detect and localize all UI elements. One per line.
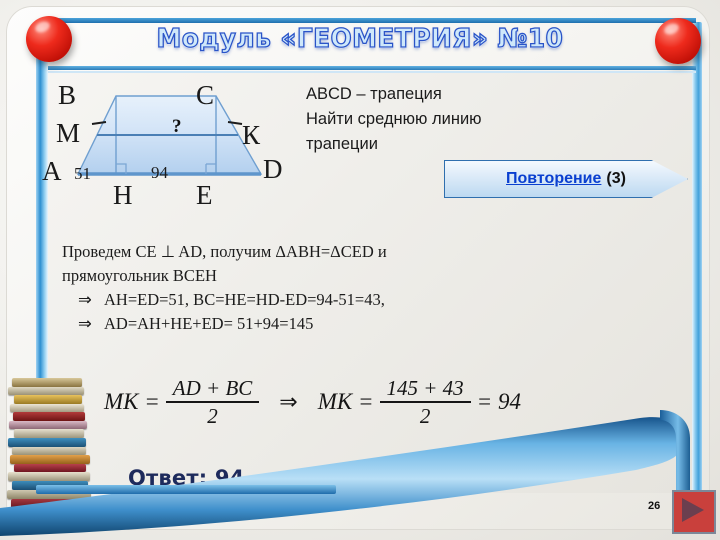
repeat-button-content: Повторение (3) xyxy=(444,160,688,198)
solution-line: прямоугольник BCEH xyxy=(62,264,642,288)
vertex-label-a: A xyxy=(42,158,62,185)
formula-computed-numerator: 145 + 43 xyxy=(380,377,471,399)
solution-text: AH=ED=51, BC=HE=HD-ED=94-51=43, xyxy=(104,290,385,309)
solution-arrow: ⇒ xyxy=(78,288,104,312)
solution-text: AD=AH+HE+ED= 51+94=145 xyxy=(104,314,313,333)
vertex-label-m: M xyxy=(56,120,80,147)
trapezoid-svg xyxy=(56,78,306,208)
page-number: 26 xyxy=(648,500,660,512)
formula-computed-result: = 94 xyxy=(477,389,521,415)
slide-root: Модуль «ГЕОМЕТРИЯ» №10 xyxy=(0,0,720,540)
play-triangle-icon xyxy=(674,492,710,528)
segment-label-hd: 94 xyxy=(151,163,168,183)
frame-right-bar xyxy=(692,22,702,492)
formula-row: MK = AD + BC 2 ⇒ MK = 145 + 43 2 = 94 xyxy=(104,372,644,432)
vertex-label-b: B xyxy=(58,82,76,109)
solution-arrow: ⇒ xyxy=(78,312,104,336)
vertex-label-d: D xyxy=(263,156,283,183)
page-title: Модуль «ГЕОМЕТРИЯ» №10 xyxy=(157,24,564,54)
task-line-3: трапеции xyxy=(306,132,606,157)
task-line-1: ABCD – трапеция xyxy=(306,82,606,107)
frame-top-rail-highlight xyxy=(48,71,696,73)
segment-label-ah: 51 xyxy=(74,164,91,184)
task-statement: ABCD – трапеция Найти среднюю линию трап… xyxy=(306,82,606,157)
formula-general-fraction: AD + BC 2 xyxy=(166,377,260,427)
vertex-label-e: E xyxy=(196,182,213,209)
vertex-label-k: К xyxy=(242,122,260,149)
formula-computed-lhs: MK = xyxy=(318,389,374,415)
formula-computed-fraction: 145 + 43 2 xyxy=(380,377,471,427)
solution-text: Проведем CE ⊥ AD, получим ΔABH=ΔCED и xyxy=(62,242,387,261)
frame-top-rail-lower xyxy=(48,66,696,70)
midline-question-mark: ? xyxy=(172,116,182,138)
next-slide-button[interactable] xyxy=(672,490,716,534)
formula-general-numerator: AD + BC xyxy=(166,377,260,399)
formula-computed: MK = 145 + 43 2 = 94 xyxy=(318,377,521,427)
vertex-label-c: C xyxy=(196,82,214,109)
solution-line: Проведем CE ⊥ AD, получим ΔABH=ΔCED и xyxy=(62,240,642,264)
books-stack-image xyxy=(4,378,96,526)
geometry-figure: B C M К A D H E 51 94 ? xyxy=(56,78,306,208)
formula-computed-denominator: 2 xyxy=(420,405,431,427)
repeat-button[interactable]: Повторение (3) xyxy=(444,160,688,198)
solution-text: прямоугольник BCEH xyxy=(62,266,217,285)
fraction-bar xyxy=(166,401,260,403)
task-line-2: Найти среднюю линию xyxy=(306,107,606,132)
formula-general-lhs: MK = xyxy=(104,389,160,415)
solution-block: Проведем CE ⊥ AD, получим ΔABH=ΔCED и пр… xyxy=(62,240,642,336)
solution-line: ⇒AH=ED=51, BC=HE=HD-ED=94-51=43, xyxy=(62,288,642,312)
repeat-count-label: (3) xyxy=(606,170,626,188)
page-title-wrap: Модуль «ГЕОМЕТРИЯ» №10 xyxy=(0,24,720,54)
fraction-bar xyxy=(380,401,471,403)
formula-general-denominator: 2 xyxy=(207,405,218,427)
vertex-label-h: H xyxy=(113,182,133,209)
frame-top-rail-upper xyxy=(48,18,696,23)
implies-symbol: ⇒ xyxy=(279,389,297,415)
solution-line: ⇒AD=AH+HE+ED= 51+94=145 xyxy=(62,312,642,336)
formula-general: MK = AD + BC 2 xyxy=(104,377,259,427)
bottom-accent-bar xyxy=(36,485,336,494)
repeat-link-label[interactable]: Повторение xyxy=(506,170,601,188)
